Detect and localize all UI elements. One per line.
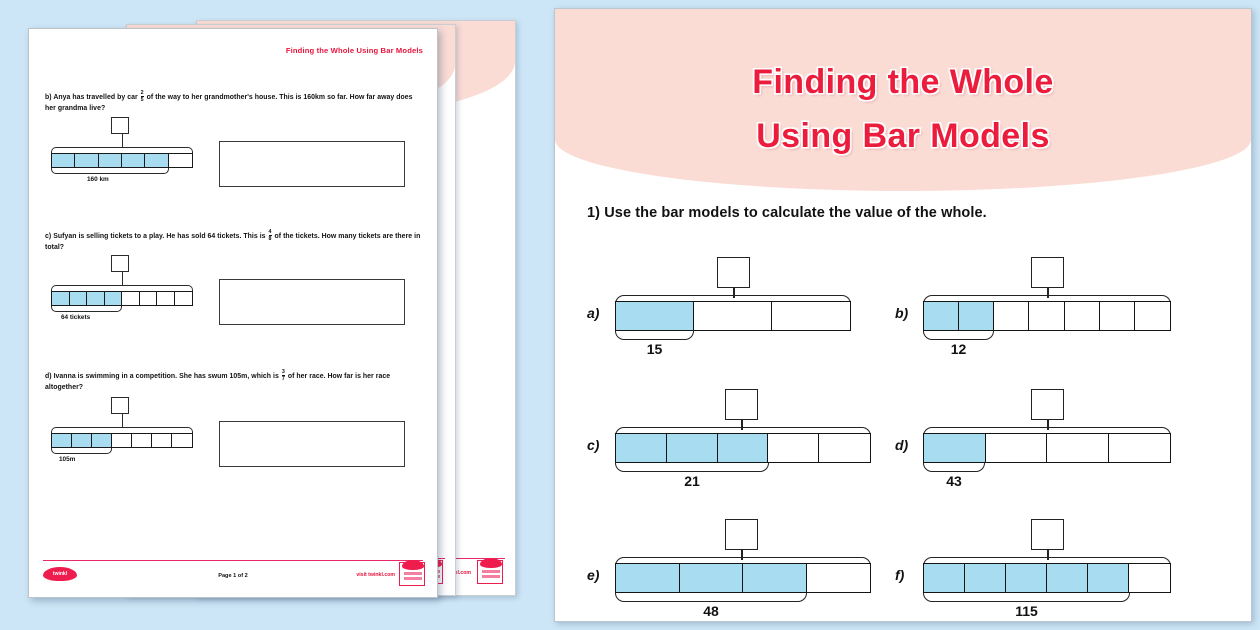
bar-model-letter: b): [895, 305, 908, 321]
bar-cell-shaded: [99, 154, 122, 167]
bar-cells: [51, 153, 193, 168]
bar-cell: [122, 292, 140, 305]
bar-cell: [1109, 434, 1171, 462]
worksheet-question-c: c) Sufyan is selling tickets to a play. …: [45, 230, 423, 253]
bar-cell-shaded: [718, 434, 769, 462]
bar-cell-shaded: [75, 154, 98, 167]
part-value-label: 12: [923, 341, 994, 357]
bar-cell-shaded: [616, 302, 694, 330]
bar-cell-shaded: [92, 434, 112, 447]
footer-rule: [43, 560, 423, 561]
bar-cell: [819, 434, 870, 462]
bar-cell: [772, 302, 850, 330]
bar-value-label: 160 km: [87, 176, 109, 183]
fraction-2-5: 2 5: [141, 91, 144, 103]
bar-cell-shaded: [924, 302, 959, 330]
answer-box-whole[interactable]: [111, 397, 129, 414]
bar-cell: [140, 292, 158, 305]
brace-bottom-part: [923, 593, 1130, 602]
brace-bottom-part: [615, 331, 694, 340]
question-text-before: Ivanna is swimming in a competition. She…: [54, 373, 279, 380]
bar-cell-shaded: [965, 564, 1006, 592]
part-value-label: 15: [615, 341, 694, 357]
bar-value-label: 64 tickets: [61, 314, 90, 321]
worksheet-question-d: d) Ivanna is swimming in a competition. …: [45, 370, 423, 393]
bar-cell: [1100, 302, 1135, 330]
question-letter: d): [45, 373, 52, 380]
brace-bottom-part: [923, 331, 994, 340]
brace-stem: [122, 271, 123, 285]
bar-cell-shaded: [1088, 564, 1129, 592]
bar-cell: [112, 434, 132, 447]
bar-cell-shaded: [105, 292, 123, 305]
bar-cells: [615, 433, 871, 463]
instruction-text: 1) Use the bar models to calculate the v…: [587, 205, 987, 221]
worksheet-answer-box-d[interactable]: [219, 421, 405, 467]
question-letter: b): [45, 94, 52, 101]
twinkl-lips-shape: [402, 560, 424, 570]
brace-bottom-part: [923, 463, 985, 472]
bar-cells: [615, 301, 851, 331]
whole-answer-box[interactable]: [1031, 519, 1064, 550]
bar-cell-shaded: [145, 154, 168, 167]
twinkl-lips-shape: [480, 558, 502, 568]
bar-cell-shaded: [680, 564, 744, 592]
bar-cells: [51, 291, 193, 306]
bar-cell: [986, 434, 1048, 462]
bar-value-label: 105m: [59, 456, 75, 463]
question-text-before: Sufyan is selling tickets to a play. He …: [53, 233, 265, 240]
worksheet-stack: visit twinkl.com: [0, 0, 540, 630]
logo-bar-2: [482, 575, 500, 578]
bar-cells: [615, 563, 871, 593]
page-title-line1: Finding the Whole: [555, 63, 1251, 102]
bar-cell-shaded: [52, 434, 72, 447]
bar-model-letter: a): [587, 305, 599, 321]
worksheet-answer-box-b[interactable]: [219, 141, 405, 187]
bar-cells: [51, 433, 193, 448]
part-value-label: 115: [923, 603, 1130, 619]
bar-cell-shaded: [1047, 564, 1088, 592]
brace-bottom: [51, 448, 112, 454]
whole-answer-box[interactable]: [1031, 389, 1064, 420]
bar-cells: [923, 301, 1171, 331]
bar-cell: [807, 564, 871, 592]
bar-cell-shaded: [87, 292, 105, 305]
logo-bar-1: [404, 572, 422, 575]
twinkl-logo-icon: [477, 560, 503, 584]
brace-bottom-part: [615, 593, 807, 602]
bar-cell-shaded: [122, 154, 145, 167]
brace-stem: [122, 413, 123, 427]
bar-cell: [157, 292, 175, 305]
bar-cells: [923, 433, 1171, 463]
bar-cell-shaded: [667, 434, 718, 462]
fraction-numerator: 4: [269, 229, 272, 235]
bar-cell: [175, 292, 193, 305]
question-text-before: Anya has travelled by car: [53, 94, 137, 101]
fraction-3-7: 3 7: [282, 370, 285, 382]
fraction-denominator: 5: [141, 96, 144, 103]
bar-cell-shaded: [52, 292, 70, 305]
worksheet-front-page[interactable]: Finding the Whole Using Bar Models b) An…: [28, 28, 438, 598]
brace-bottom: [51, 306, 122, 312]
resource-preview-page[interactable]: Finding the Whole Using Bar Models 1) Us…: [554, 8, 1252, 622]
logo-bar-2: [404, 577, 422, 580]
bar-model-letter: f): [895, 567, 904, 583]
bar-cell: [152, 434, 172, 447]
bar-cell-shaded: [616, 434, 667, 462]
bar-cell-shaded: [924, 564, 965, 592]
bar-cell-shaded: [70, 292, 88, 305]
question-letter: c): [45, 233, 51, 240]
bar-cell: [1047, 434, 1109, 462]
part-value-label: 48: [615, 603, 807, 619]
worksheet-header-title: Finding the Whole Using Bar Models: [286, 46, 423, 55]
bar-model-letter: e): [587, 567, 599, 583]
fraction-denominator: 8: [269, 235, 272, 242]
brace-bottom-part: [615, 463, 769, 472]
fraction-4-8: 4 8: [269, 230, 272, 242]
brace-bottom: [51, 168, 169, 174]
twinkl-logo-icon: [399, 562, 425, 586]
bar-cell-shaded: [743, 564, 807, 592]
bar-cell: [994, 302, 1029, 330]
whole-answer-box[interactable]: [725, 519, 758, 550]
fraction-numerator: 2: [141, 90, 144, 96]
worksheet-question-b: b) Anya has travelled by car 2 5 of the …: [45, 91, 423, 114]
page-title-line2: Using Bar Models: [555, 117, 1251, 156]
bar-cell-shaded: [72, 434, 92, 447]
bar-cell-shaded: [1006, 564, 1047, 592]
logo-bar-1: [482, 570, 500, 573]
bar-cell-shaded: [616, 564, 680, 592]
bar-cell: [132, 434, 152, 447]
worksheet-answer-box-c[interactable]: [219, 279, 405, 325]
bar-cell: [1065, 302, 1100, 330]
bar-model-letter: d): [895, 437, 908, 453]
answer-box-whole[interactable]: [111, 117, 129, 134]
visit-link[interactable]: visit twinkl.com: [356, 572, 395, 578]
brace-stem: [122, 133, 123, 147]
bar-cell: [768, 434, 819, 462]
bar-cell-shaded: [924, 434, 986, 462]
bar-cells: [923, 563, 1171, 593]
bar-cell-shaded: [959, 302, 994, 330]
part-value-label: 43: [923, 473, 985, 489]
bar-model-letter: c): [587, 437, 599, 453]
fraction-numerator: 3: [282, 369, 285, 375]
bar-cell: [694, 302, 772, 330]
bar-cell: [1029, 302, 1064, 330]
bar-cell: [172, 434, 192, 447]
bar-cell: [1129, 564, 1170, 592]
bar-cell: [169, 154, 192, 167]
bar-cell-shaded: [52, 154, 75, 167]
part-value-label: 21: [615, 473, 769, 489]
answer-box-whole[interactable]: [111, 255, 129, 272]
bar-cell: [1135, 302, 1170, 330]
screenshot-root: visit twinkl.com: [0, 0, 1260, 630]
whole-answer-box[interactable]: [725, 389, 758, 420]
fraction-denominator: 7: [282, 375, 285, 382]
whole-answer-box[interactable]: [1031, 257, 1064, 288]
whole-answer-box[interactable]: [717, 257, 750, 288]
